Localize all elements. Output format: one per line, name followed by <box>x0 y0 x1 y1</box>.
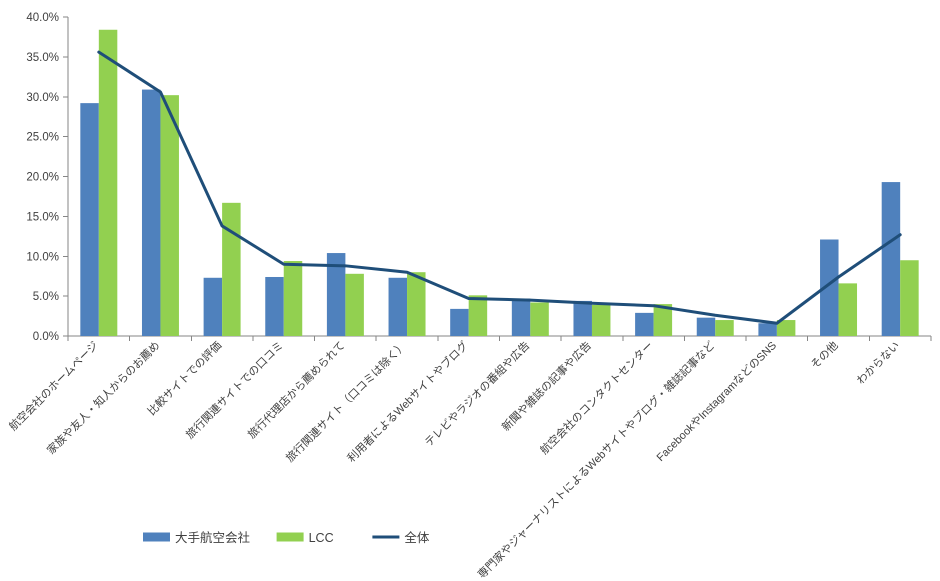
y-tick-label: 10.0% <box>26 251 59 263</box>
x-category-label: わからない <box>854 339 902 387</box>
legend-label: LCC <box>309 531 334 545</box>
x-category-label: 専門家やジャーナリストによるWebサイトやブログ・雑誌記事など <box>474 338 717 581</box>
bar-primary <box>697 318 715 336</box>
bar-line-chart: 0.0%5.0%10.0%15.0%20.0%25.0%30.0%35.0%40… <box>0 0 940 581</box>
bar-group <box>80 30 117 336</box>
bar-primary <box>204 278 222 336</box>
y-tick-label: 0.0% <box>33 331 59 343</box>
bar-group <box>265 261 302 336</box>
y-tick-label: 20.0% <box>26 172 59 184</box>
legend-item[interactable]: LCC <box>277 531 334 545</box>
x-category-label: 航空会社のコンタクトセンター <box>537 338 656 457</box>
x-category-label: FacebookやInstagramなどのSNS <box>654 339 779 464</box>
bar-primary <box>80 103 98 336</box>
legend-label: 全体 <box>404 530 430 545</box>
x-category-label: 利用者によるWebサイトやブログ <box>344 338 471 465</box>
x-category-label: 旅行関連サイト（口コミは除く） <box>283 338 410 465</box>
y-tick-label: 40.0% <box>26 12 59 24</box>
x-category-label: 旅行関連サイトでの口コミ <box>183 338 286 441</box>
bar-secondary <box>99 30 117 336</box>
x-category-label: テレビやラジオの番組や広告 <box>422 339 532 449</box>
x-category-label: その他 <box>808 339 841 372</box>
bar-secondary <box>222 203 240 336</box>
bar-primary <box>573 301 591 336</box>
bar-primary <box>450 309 468 336</box>
bar-group <box>450 295 487 336</box>
legend-item[interactable]: 大手航空会社 <box>143 530 250 545</box>
bar-primary <box>882 182 900 336</box>
x-category-label: 旅行代理店から薦められて <box>245 338 348 441</box>
legend-label: 大手航空会社 <box>175 530 250 545</box>
bar-secondary <box>284 261 302 336</box>
bar-secondary <box>530 303 548 337</box>
bar-group <box>573 301 610 336</box>
bar-primary <box>635 313 653 336</box>
bar-group <box>142 90 179 336</box>
legend-color-swatch <box>143 533 170 542</box>
y-tick-label: 15.0% <box>26 211 59 223</box>
bar-secondary <box>469 295 487 336</box>
bar-secondary <box>345 274 363 336</box>
bar-group <box>882 182 919 336</box>
chart-container: 0.0%5.0%10.0%15.0%20.0%25.0%30.0%35.0%40… <box>0 0 940 581</box>
bar-group <box>512 299 549 336</box>
bar-primary <box>758 323 776 336</box>
y-tick-label: 35.0% <box>26 52 59 64</box>
bar-secondary <box>407 272 425 336</box>
y-tick-label: 25.0% <box>26 132 59 144</box>
bar-secondary <box>900 260 918 336</box>
bar-primary <box>142 90 160 336</box>
bar-primary <box>265 277 283 336</box>
bar-secondary <box>160 95 178 336</box>
x-category-label: 家族や友人・知人からのお薦め <box>44 338 163 457</box>
bar-group <box>389 272 426 336</box>
bar-primary <box>512 299 530 336</box>
bar-secondary <box>839 283 857 336</box>
bar-primary <box>389 278 407 336</box>
y-tick-label: 30.0% <box>26 92 59 104</box>
y-tick-label: 5.0% <box>33 291 59 303</box>
legend-item[interactable]: 全体 <box>372 530 430 545</box>
legend-color-swatch <box>277 533 304 542</box>
bar-group <box>697 318 734 336</box>
bar-secondary <box>715 320 733 336</box>
bar-secondary <box>592 305 610 336</box>
